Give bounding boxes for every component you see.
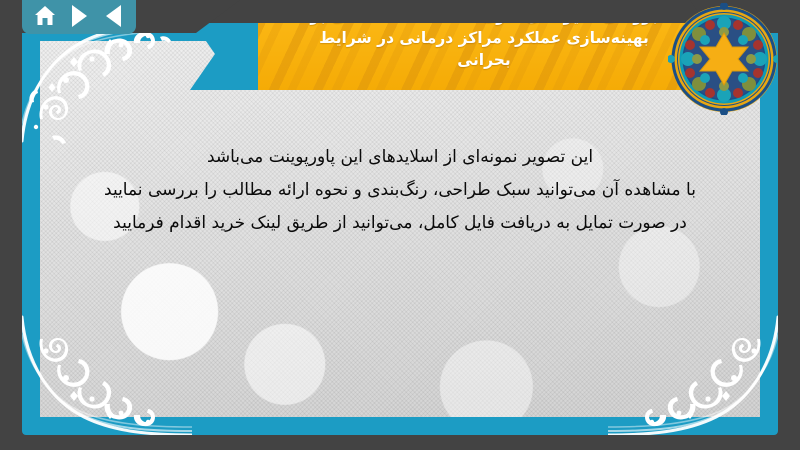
- persian-star-medallion-icon: [668, 3, 780, 115]
- body-line-2: با مشاهده آن می‌توانید سبک طراحی، رنگ‌بن…: [62, 174, 738, 207]
- slide-navigation-bar: [22, 0, 136, 34]
- body-line-1: این تصویر نمونه‌ای از اسلایدهای این پاور…: [62, 141, 738, 174]
- home-button[interactable]: [31, 3, 59, 29]
- slide-body-text: این تصویر نمونه‌ای از اسلایدهای این پاور…: [62, 141, 738, 240]
- window-chrome-left-rail: [0, 0, 22, 450]
- previous-slide-button[interactable]: [99, 3, 127, 29]
- window-chrome-bottom-rail: [0, 435, 800, 450]
- banner-body: بررسی تأثیر مدل‌سازی اطلاعات ساختمانی بر…: [258, 18, 710, 90]
- body-line-3: در صورت تمایل به دریافت فایل کامل، می‌تو…: [62, 207, 738, 240]
- next-slide-button[interactable]: [65, 3, 93, 29]
- slide-viewer: این تصویر نمونه‌ای از اسلایدهای این پاور…: [0, 0, 800, 450]
- triangle-right-icon: [72, 5, 87, 27]
- window-chrome-right-rail: [778, 0, 800, 450]
- home-icon: [33, 4, 57, 28]
- triangle-left-icon: [106, 5, 121, 27]
